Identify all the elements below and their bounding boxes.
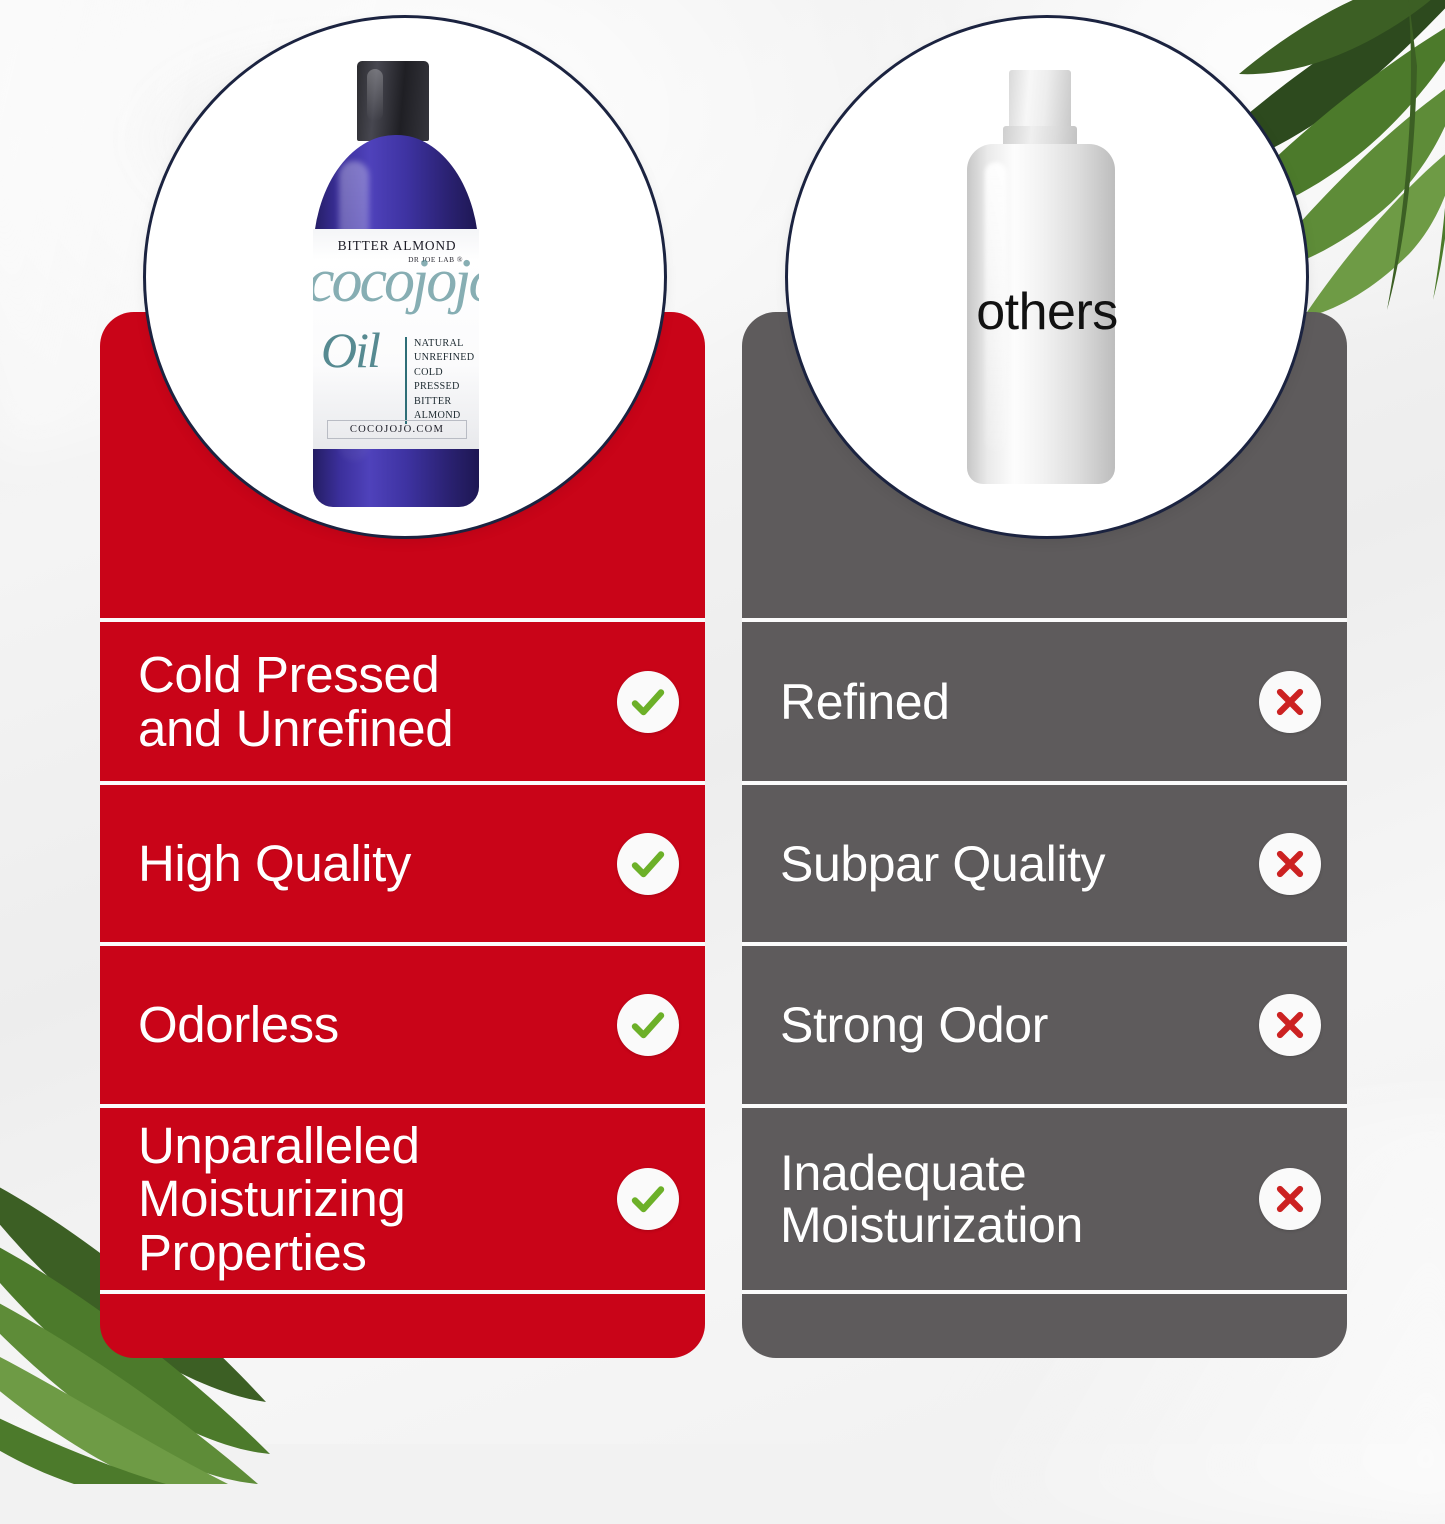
column-footer-others xyxy=(742,1290,1347,1358)
comparison-row[interactable]: High Quality xyxy=(100,781,705,942)
label-url: COCOJOJO.COM xyxy=(327,420,467,439)
cross-icon xyxy=(1259,994,1321,1056)
bottle-cap xyxy=(357,61,429,141)
comparison-column-cocojojo: Cold Pressed and Unrefined High Quality … xyxy=(100,0,705,1444)
cross-icon xyxy=(1259,671,1321,733)
comparison-row[interactable]: Subpar Quality xyxy=(742,781,1347,942)
row-label: Cold Pressed and Unrefined xyxy=(138,648,453,754)
cross-icon xyxy=(1259,1168,1321,1230)
comparison-column-others: Refined Subpar Quality Strong Odor xyxy=(742,0,1347,1444)
row-label: Inadequate Moisturization xyxy=(780,1147,1083,1251)
row-label: Odorless xyxy=(138,998,339,1051)
comparison-row[interactable]: Odorless xyxy=(100,942,705,1104)
comparison-row[interactable]: Inadequate Moisturization xyxy=(742,1104,1347,1290)
check-icon xyxy=(617,994,679,1056)
comparison-row[interactable]: Refined xyxy=(742,618,1347,781)
label-brand-script-secondary: Oil xyxy=(321,321,379,379)
bottle-label: BITTER ALMOND DR JOE LAB ® cocojojo Oil … xyxy=(313,229,479,449)
check-icon xyxy=(617,1168,679,1230)
label-brand-script: cocojojo xyxy=(313,255,479,307)
check-icon xyxy=(617,671,679,733)
bottle-label-text: others xyxy=(947,282,1147,342)
cocojojo-bottle-image: BITTER ALMOND DR JOE LAB ® cocojojo Oil … xyxy=(305,61,505,511)
cross-icon xyxy=(1259,833,1321,895)
column-footer-cocojojo xyxy=(100,1290,705,1358)
row-label: Unparalleled Moisturizing Properties xyxy=(138,1119,420,1278)
comparison-table: Cold Pressed and Unrefined High Quality … xyxy=(0,0,1445,1444)
comparison-row[interactable]: Cold Pressed and Unrefined xyxy=(100,618,705,781)
check-icon xyxy=(617,833,679,895)
comparison-row[interactable]: Strong Odor xyxy=(742,942,1347,1104)
row-label: Refined xyxy=(780,676,950,728)
product-medallion-cocojojo: BITTER ALMOND DR JOE LAB ® cocojojo Oil … xyxy=(146,18,664,536)
row-label: High Quality xyxy=(138,837,411,890)
row-label: Subpar Quality xyxy=(780,838,1105,890)
row-label: Strong Odor xyxy=(780,999,1048,1051)
product-medallion-others: others xyxy=(788,18,1306,536)
bottle-cap xyxy=(1009,70,1071,132)
others-bottle-image: others xyxy=(947,70,1147,490)
label-specs: NATURAL UNREFINED COLD PRESSED BITTER AL… xyxy=(405,337,479,424)
comparison-row[interactable]: Unparalleled Moisturizing Properties xyxy=(100,1104,705,1290)
